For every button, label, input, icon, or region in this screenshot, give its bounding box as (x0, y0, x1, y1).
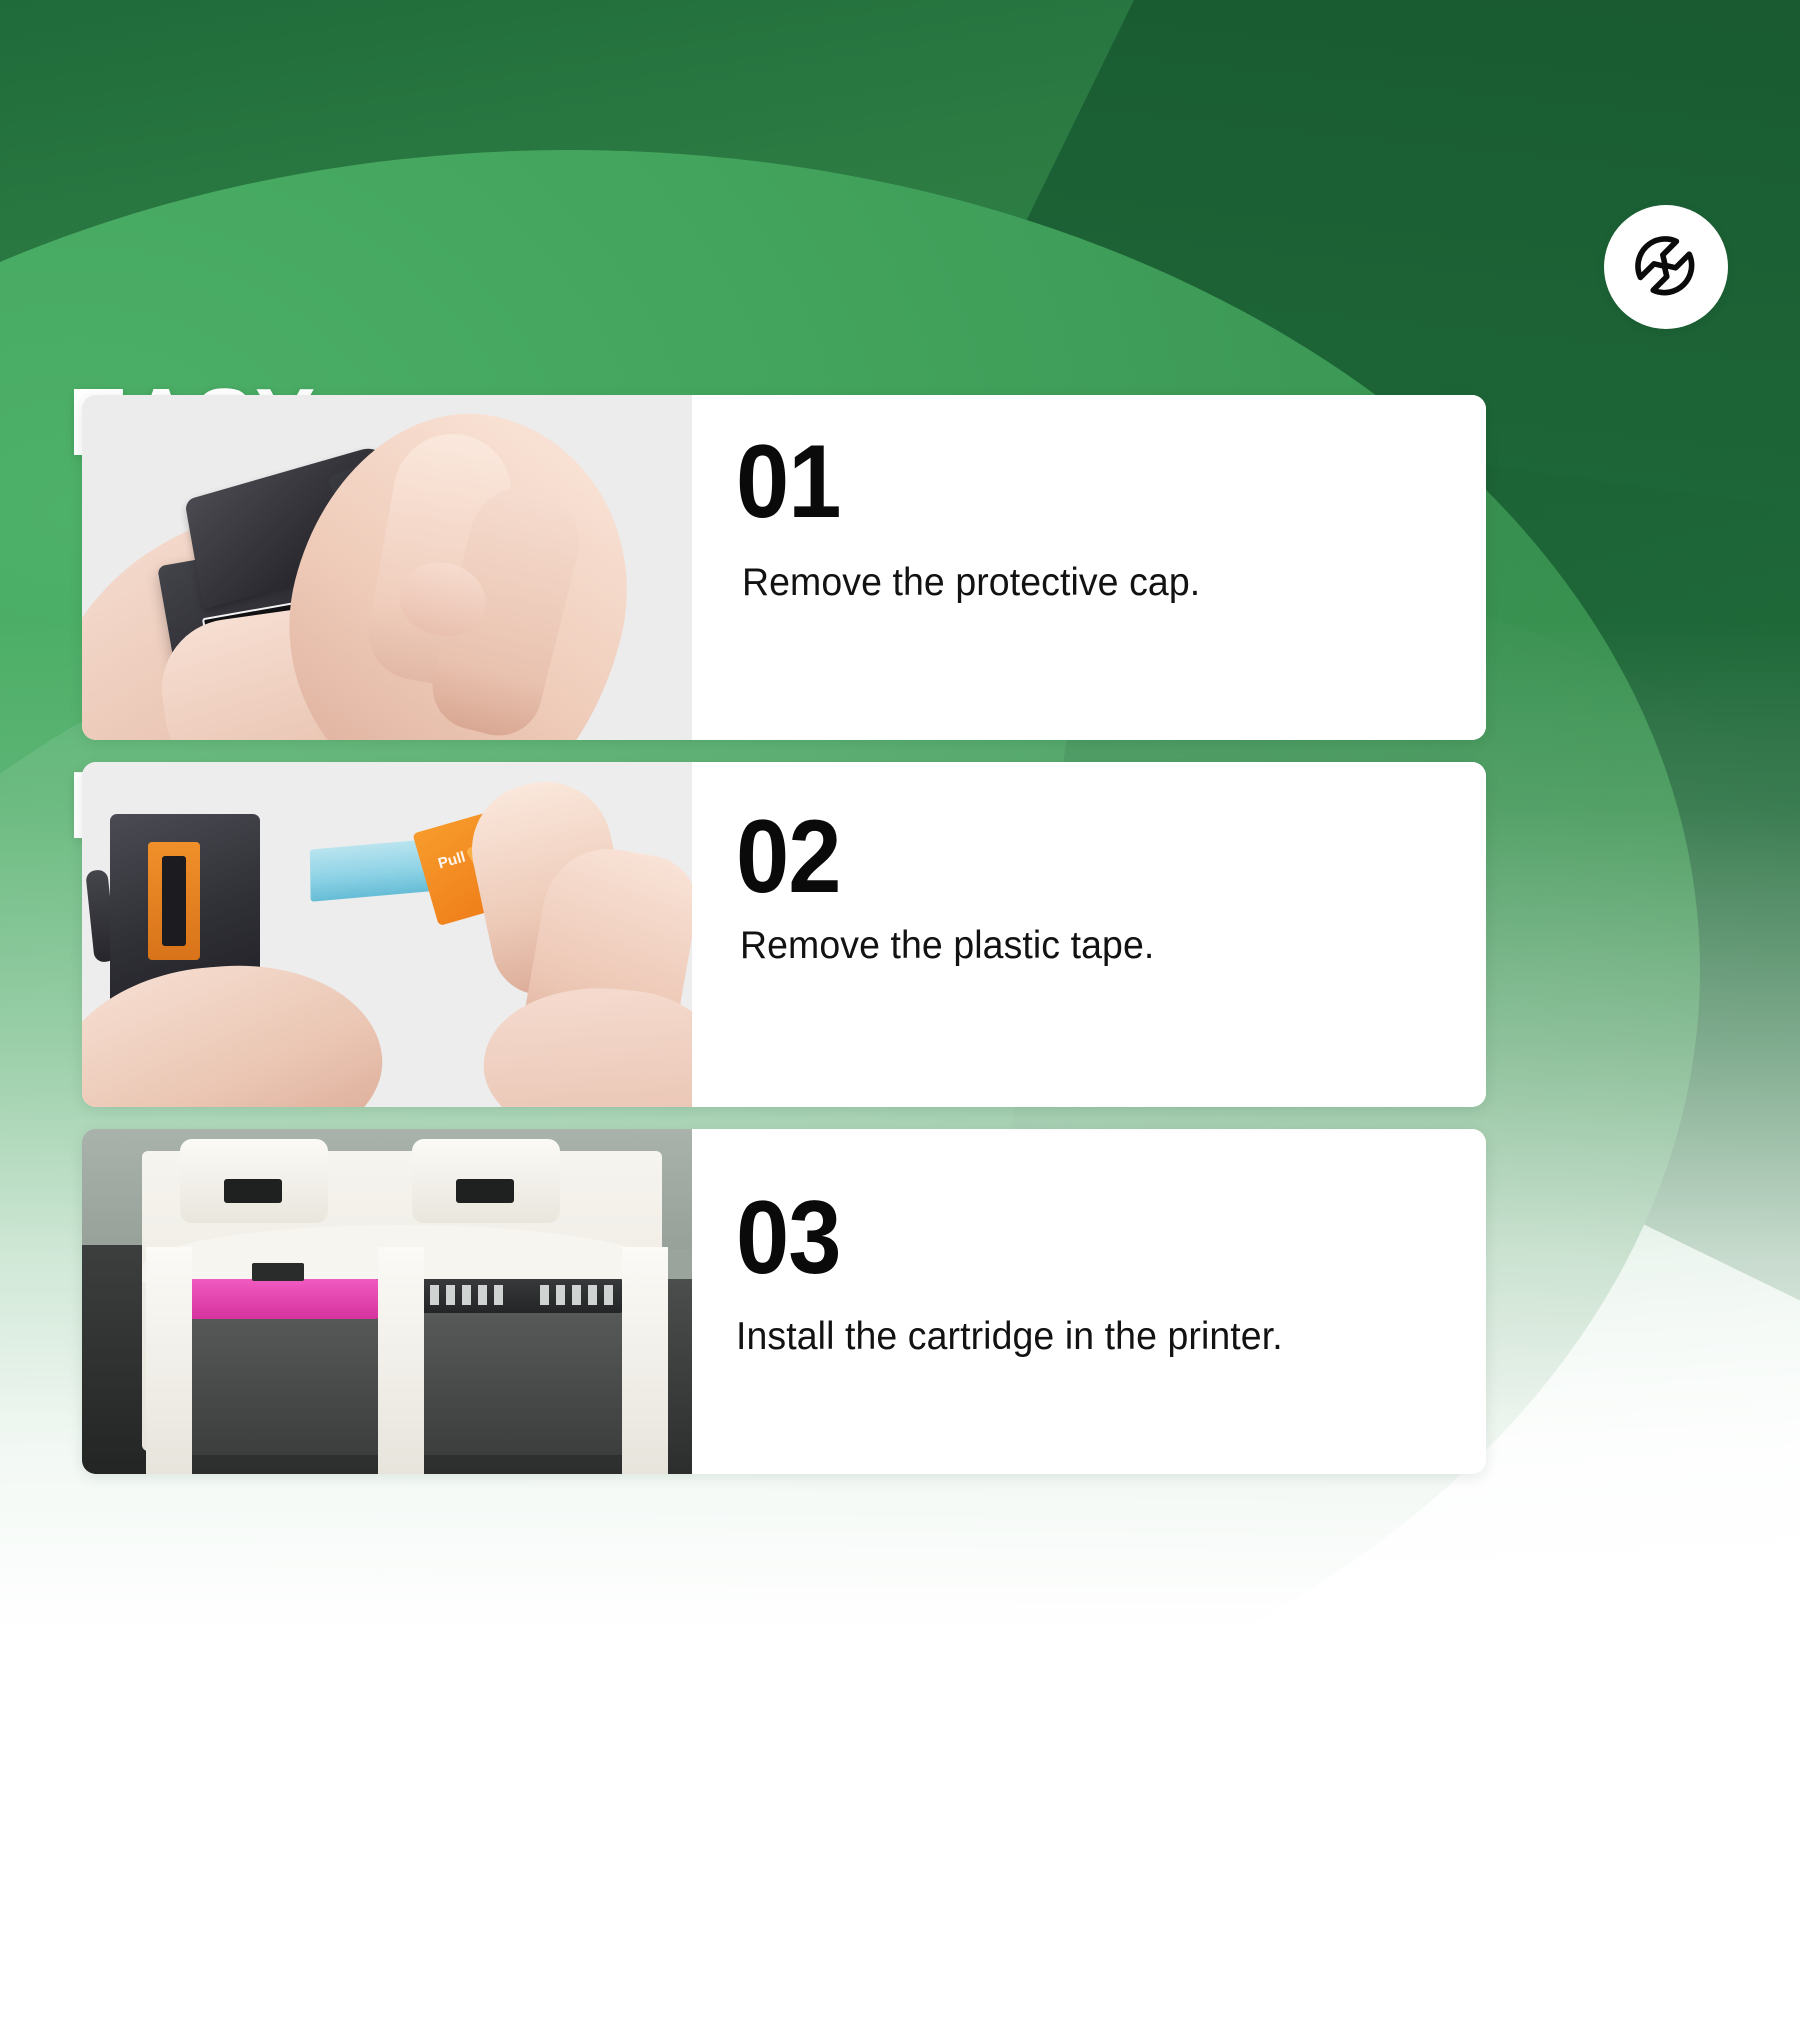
step-02-body: 02 Remove the plastic tape. (692, 762, 1486, 1107)
carriage-post-right (622, 1247, 668, 1474)
tri-color-cartridge-top (178, 1279, 378, 1319)
carriage-post-middle (378, 1247, 424, 1474)
wrench-circle-badge (1604, 205, 1728, 329)
step-01-caption: Remove the protective cap. (742, 561, 1410, 605)
palm (476, 976, 692, 1107)
carriage-latch-right (412, 1139, 560, 1223)
step-01-body: 01 Remove the protective cap. (692, 395, 1486, 740)
wrench-icon (1626, 227, 1706, 307)
step-01-number: 01 (736, 435, 1382, 531)
step-03-caption: Install the cartridge in the printer. (736, 1315, 1410, 1359)
step-02-caption: Remove the plastic tape. (740, 924, 1410, 968)
step-card-02[interactable]: Pull 02 Remove the plastic tape. (82, 762, 1486, 1107)
step-card-03[interactable]: 03 Install the cartridge in the printer. (82, 1129, 1486, 1474)
step-01-photo: hp 65XL INK CARTRIDGE Black N9K04AN 240 … (82, 395, 692, 740)
step-02-number: 02 (736, 810, 1382, 906)
step-03-body: 03 Install the cartridge in the printer. (692, 1129, 1486, 1474)
step-02-photo: Pull (82, 762, 692, 1107)
cartridge-nozzle-slot (162, 856, 186, 946)
carriage-post-left (146, 1247, 192, 1474)
step-card-01[interactable]: hp 65XL INK CARTRIDGE Black N9K04AN 240 … (82, 395, 1486, 740)
steps-list: hp 65XL INK CARTRIDGE Black N9K04AN 240 … (82, 395, 1486, 1474)
black-cartridge-top (422, 1279, 622, 1313)
carriage-latch-left (180, 1139, 328, 1223)
step-03-photo (82, 1129, 692, 1474)
step-03-number: 03 (736, 1191, 1382, 1287)
